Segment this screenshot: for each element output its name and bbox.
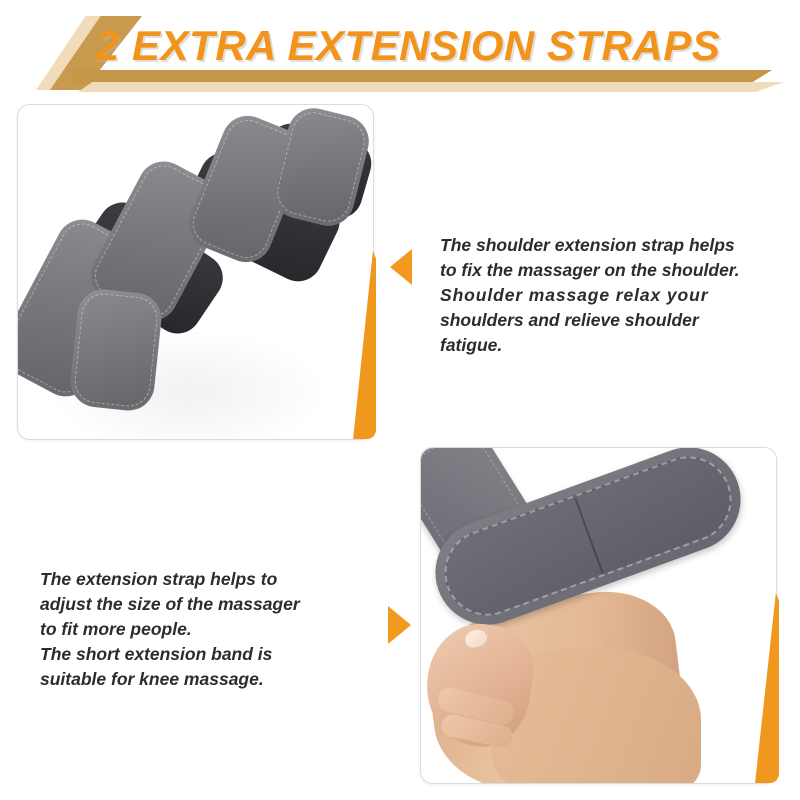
knee-strap-photo: [421, 448, 776, 783]
shoulder-strap-photo: [18, 105, 373, 439]
arrow-pointing-left-icon: [390, 249, 412, 285]
knee-strap-description: The extension strap helps to adjust the …: [40, 567, 370, 692]
blurb-line: fatigue.: [440, 333, 776, 358]
shoulder-strap-photo-panel: [17, 104, 374, 440]
title-underline-bar-bottom: [78, 82, 784, 92]
header-banner: 2 EXTRA EXTENSION STRAPS: [0, 0, 800, 100]
infographic-page: 2 EXTRA EXTENSION STRAPS The shoulder ex…: [0, 0, 800, 800]
shoulder-strap-description: The shoulder extension strap helps to fi…: [440, 233, 776, 358]
blurb-line: suitable for knee massage.: [40, 667, 370, 692]
arrow-pointing-right-icon: [388, 606, 411, 644]
blurb-line: to fit more people.: [40, 617, 370, 642]
blurb-line: shoulders and relieve shoulder: [440, 308, 776, 333]
title-underline-bar-top: [72, 70, 772, 83]
blurb-line: The shoulder extension strap helps: [440, 233, 776, 258]
blurb-line: adjust the size of the massager: [40, 592, 370, 617]
knee-strap-photo-panel: [420, 447, 777, 784]
blurb-line: The extension strap helps to: [40, 567, 370, 592]
page-title: 2 EXTRA EXTENSION STRAPS: [96, 22, 720, 70]
blurb-line: to fix the massager on the shoulder.: [440, 258, 776, 283]
strap-end-tab: [68, 287, 164, 413]
blurb-line: Shoulder massage relax your: [440, 283, 776, 308]
blurb-line: The short extension band is: [40, 642, 370, 667]
